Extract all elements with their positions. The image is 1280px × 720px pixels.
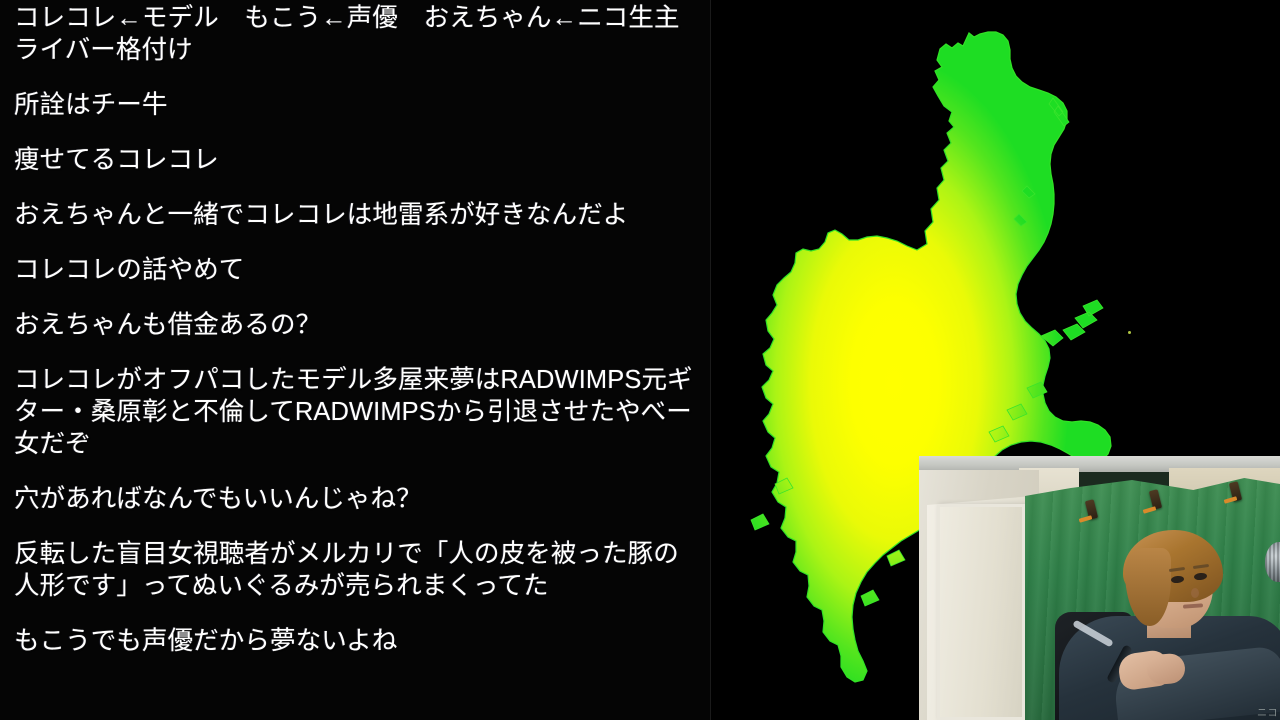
streamer-nose	[1191, 588, 1199, 598]
stream-canvas: コレコレ←モデル もこう←声優 おえちゃん←ニコ生主 ライバー格付け 所詮はチー…	[0, 0, 1280, 720]
comment-item: コレコレがオフパコしたモデル多屋来夢はRADWIMPS元ギター・桑原彰と不倫して…	[14, 364, 697, 460]
comment-item: おえちゃんも借金あるの？	[14, 309, 697, 341]
comment-item: もこうでも声優だから夢ないよね	[14, 625, 697, 657]
comment-item: おえちゃんと一緒でコレコレは地雷系が好きなんだよ	[14, 199, 697, 231]
comment-item: コレコレ←モデル もこう←声優 おえちゃん←ニコ生主 ライバー格付け	[14, 2, 697, 66]
comment-item: 痩せてるコレコレ	[14, 144, 697, 176]
comment-item: 穴があればなんでもいいんじゃね？	[14, 483, 697, 515]
map-speck	[1128, 331, 1131, 334]
room-door	[937, 504, 1025, 720]
comment-panel: コレコレ←モデル もこう←声優 おえちゃん←ニコ生主 ライバー格付け 所詮はチー…	[0, 0, 711, 720]
streamer-webcam-inset[interactable]: ニコ	[919, 456, 1280, 720]
comment-item: 反転した盲目女視聴者がメルカリで「人の皮を被った豚の人形です」ってぬいぐるみが売…	[14, 538, 697, 602]
comment-item: 所詮はチー牛	[14, 89, 697, 121]
webcam-watermark: ニコ	[1257, 704, 1278, 719]
comment-item: コレコレの話やめて	[14, 254, 697, 286]
